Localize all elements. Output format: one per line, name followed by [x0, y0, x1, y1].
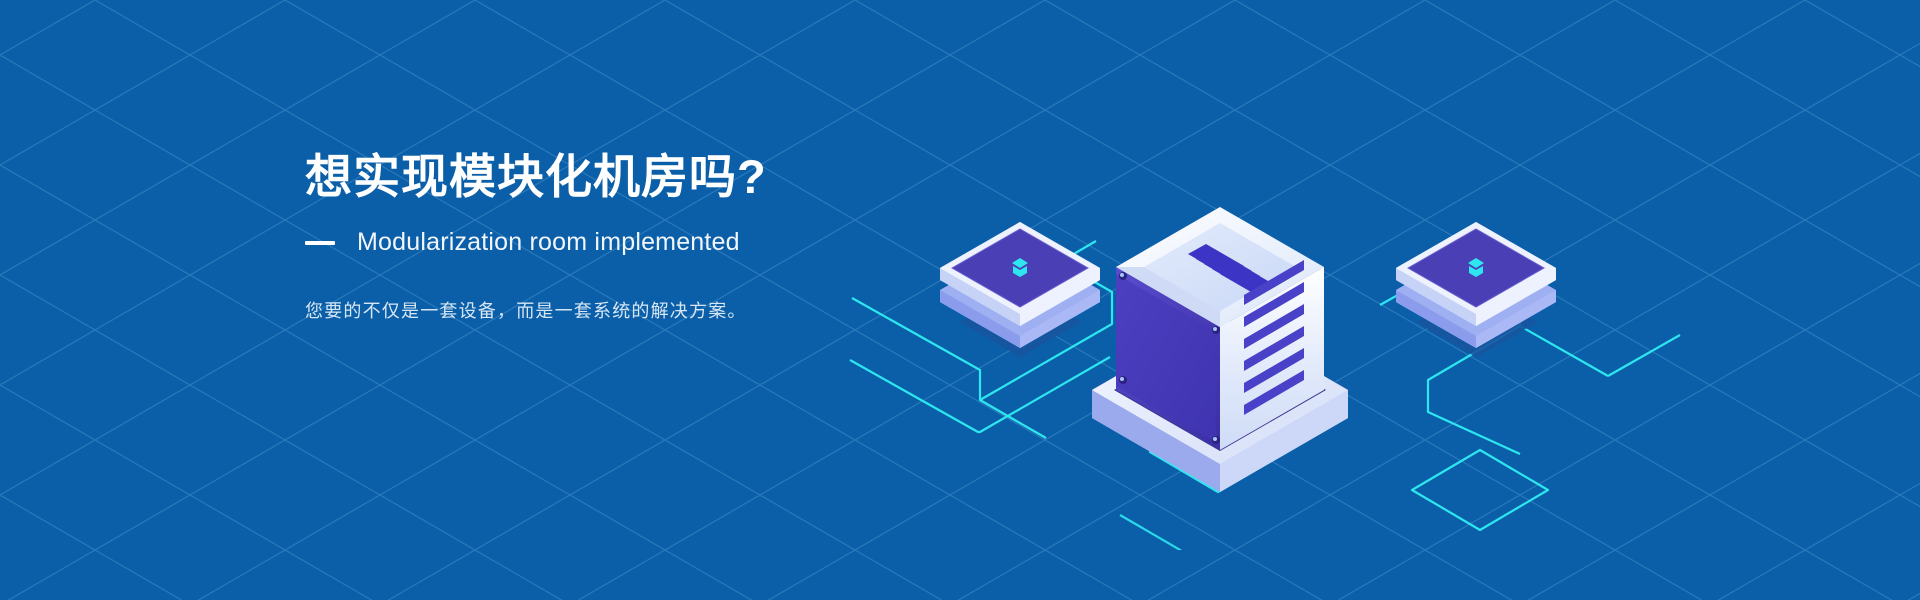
processor-chip-right [1396, 222, 1556, 348]
hero-text-block: 想实现模块化机房吗? Modularization room implement… [305, 150, 1005, 323]
page-description: 您要的不仅是一套设备，而是一套系统的解决方案。 [305, 297, 1005, 323]
server-rack [1092, 207, 1348, 492]
page-subtitle: Modularization room implemented [357, 228, 740, 257]
hero-banner: 想实现模块化机房吗? Modularization room implement… [0, 0, 1920, 600]
subtitle-row: Modularization room implemented [305, 228, 1005, 257]
page-title: 想实现模块化机房吗? [305, 150, 1005, 204]
dash-rule-icon [305, 241, 335, 245]
